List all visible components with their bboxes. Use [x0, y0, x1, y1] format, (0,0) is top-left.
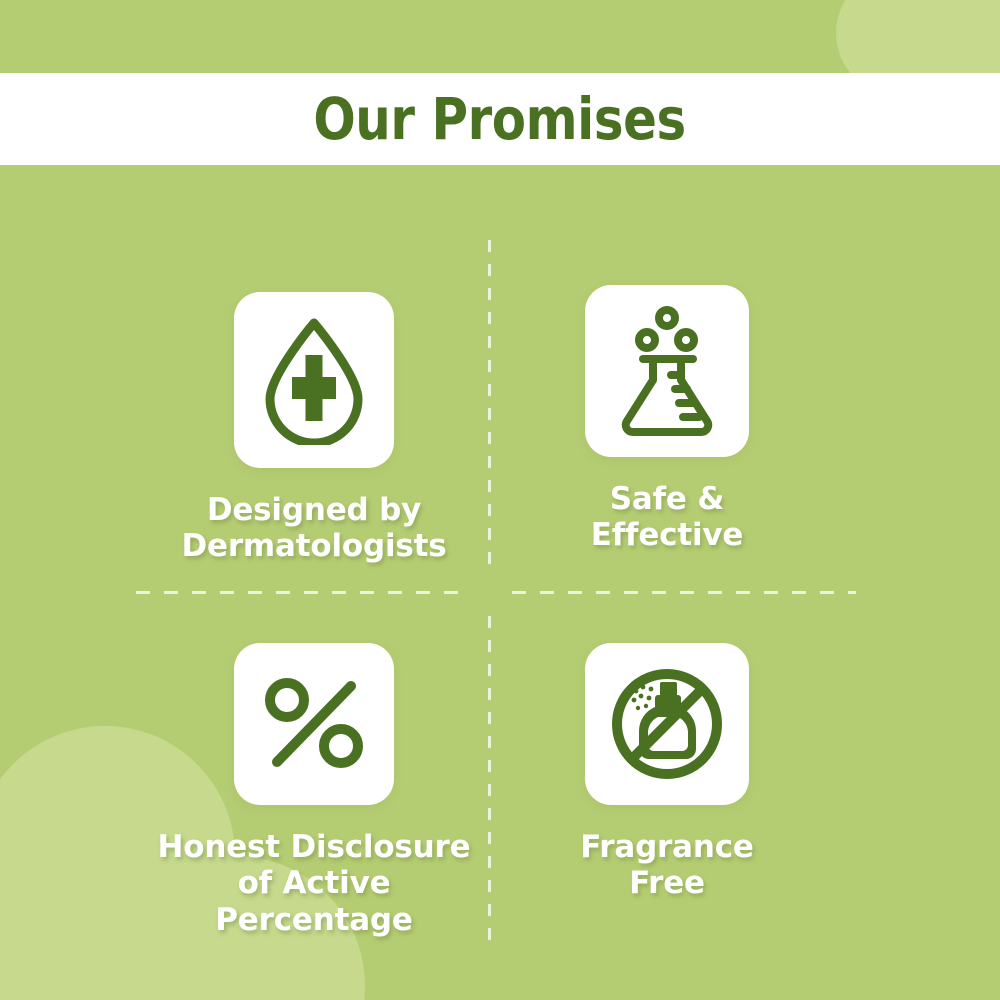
promise-icon-card [585, 643, 749, 805]
promise-item-designed-by-dermatologists: Designed by Dermatologists [154, 292, 474, 565]
droplet-medical-cross-icon [256, 315, 372, 445]
no-fragrance-spray-bottle-icon [608, 665, 726, 783]
page-title: Our Promises [314, 90, 686, 148]
promise-label: Honest Disclosure of Active Percentage [154, 829, 474, 938]
promise-icon-card [585, 285, 749, 457]
promise-icon-card [234, 643, 394, 805]
promise-label: Safe & Effective [591, 481, 743, 554]
promise-item-fragrance-free: Fragrance Free [520, 643, 814, 902]
promise-label: Fragrance Free [580, 829, 753, 902]
promise-item-safe-and-effective: Safe & Effective [520, 285, 814, 554]
promise-item-honest-disclosure: Honest Disclosure of Active Percentage [154, 643, 474, 938]
erlenmeyer-flask-icon [611, 305, 723, 437]
percent-icon [261, 676, 367, 772]
promise-grid: Designed by Dermatologists [0, 165, 1000, 1000]
promise-label: Designed by Dermatologists [181, 492, 446, 565]
promise-icon-card [234, 292, 394, 468]
promises-graphic: Our Promises Designed by Dermatologists [0, 0, 1000, 1000]
header-banner: Our Promises [0, 73, 1000, 165]
